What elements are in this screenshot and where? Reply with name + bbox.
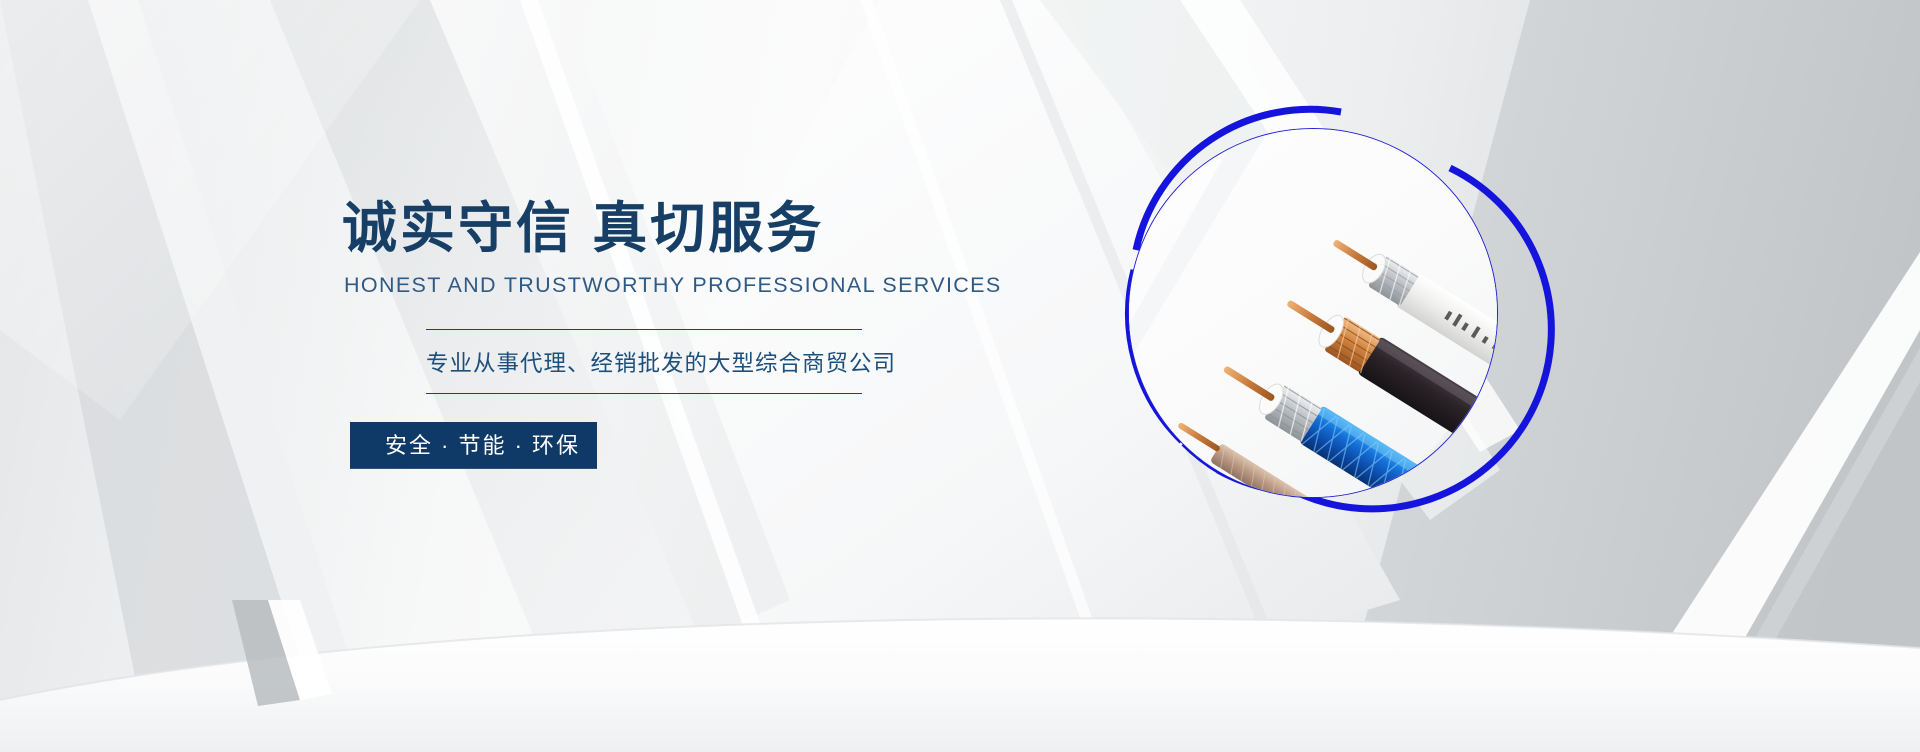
ribbon-label: 安全 · 节能 · 环保 [350, 422, 629, 469]
headline: 诚实守信 真切服务 [342, 196, 862, 261]
background-architecture-shapes [0, 0, 1920, 752]
tagline: 专业从事代理、经销批发的大型综合商贸公司 [426, 330, 862, 393]
coaxial-cable-photo [1128, 128, 1498, 498]
subheadline-english: HONEST AND TRUSTWORTHY PROFESSIONAL SERV… [344, 273, 862, 298]
ribbon-notch-icon [597, 422, 629, 469]
hero-text-block: 诚实守信 真切服务 HONEST AND TRUSTWORTHY PROFESS… [342, 196, 862, 469]
feature-ribbon: 安全 · 节能 · 环保 [350, 422, 597, 469]
product-photo-circle [1128, 128, 1498, 498]
product-medallion [1128, 128, 1498, 498]
divider-bottom [426, 393, 862, 394]
hero-banner: 诚实守信 真切服务 HONEST AND TRUSTWORTHY PROFESS… [0, 0, 1920, 752]
